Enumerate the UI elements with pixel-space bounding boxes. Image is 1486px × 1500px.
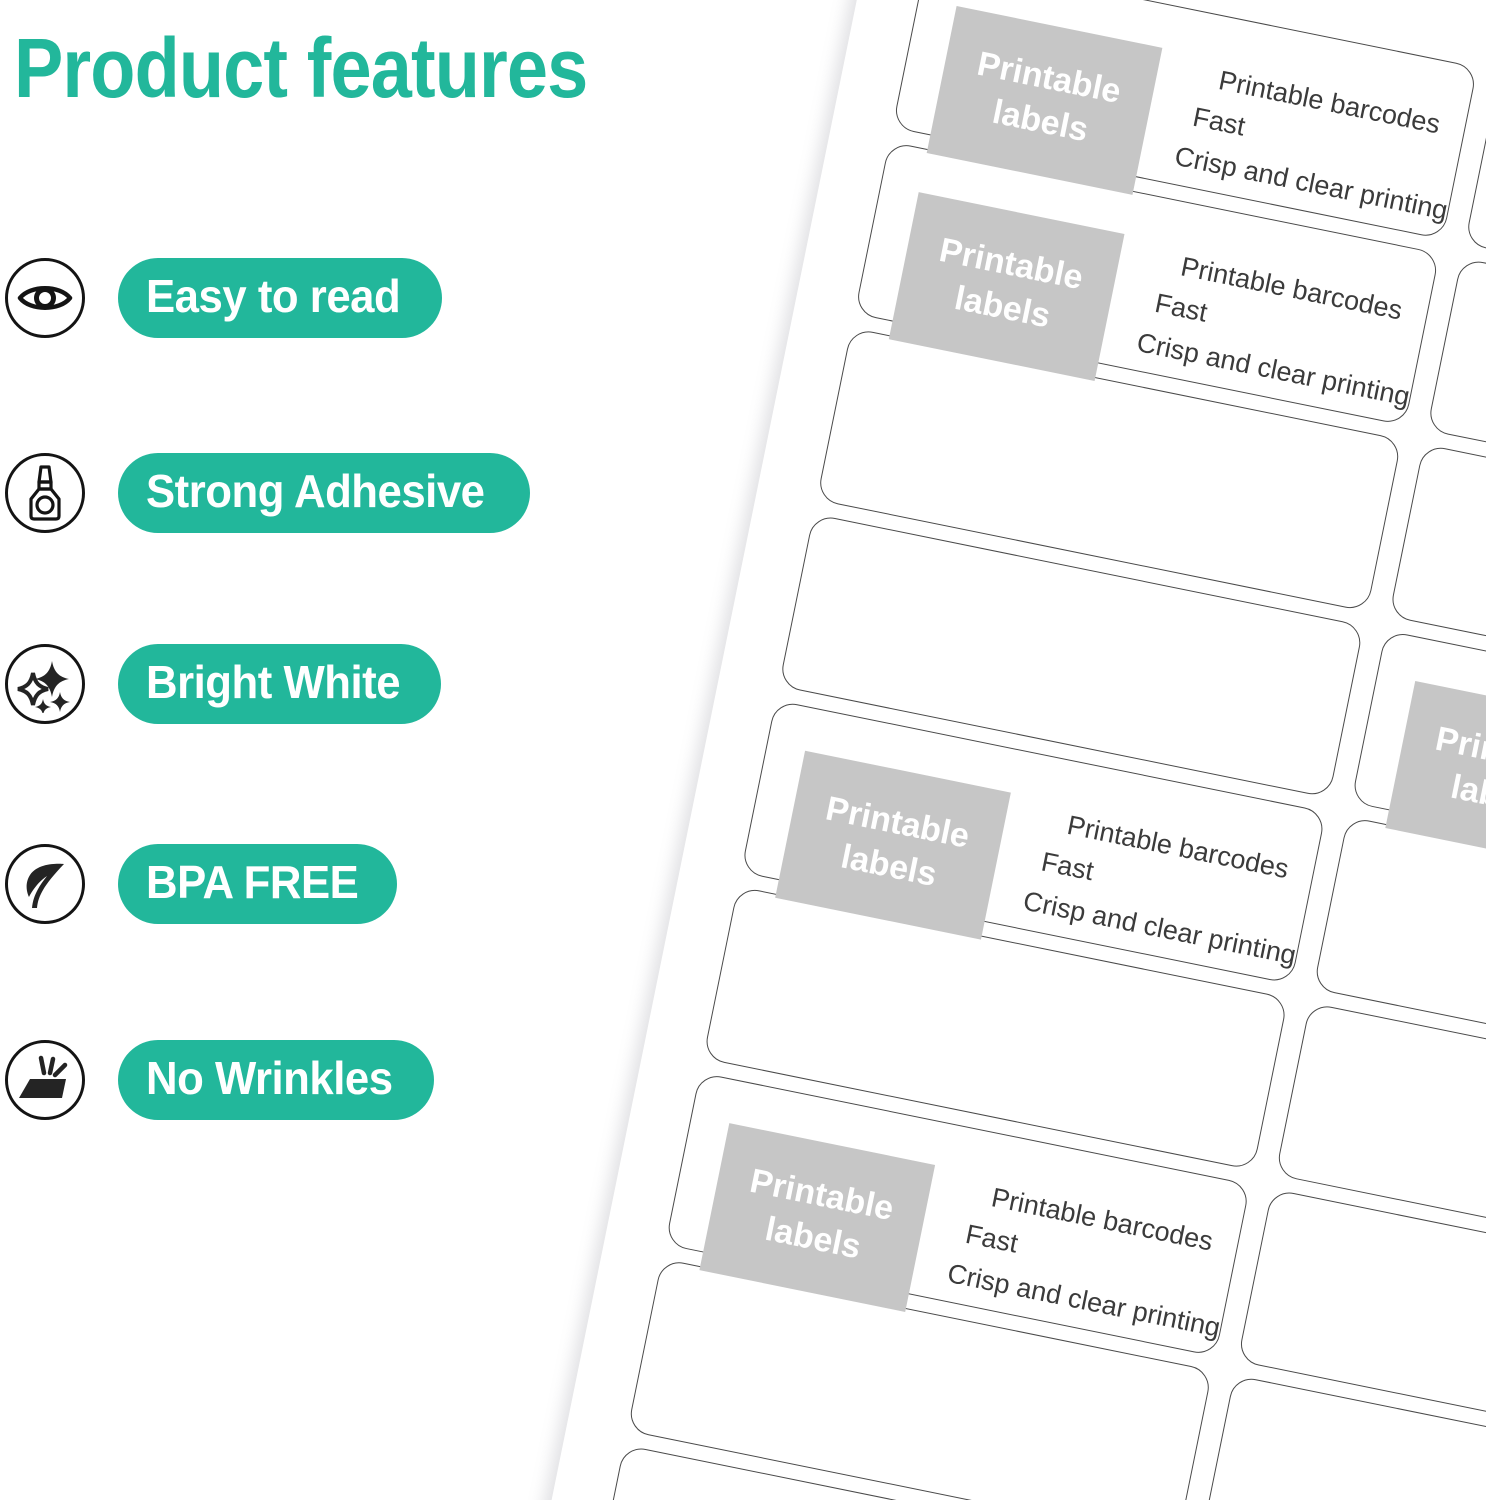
glue-bottle-icon xyxy=(5,453,85,533)
label-bullet-list: Printable barcodesFastCrisp and clear pr… xyxy=(1133,241,1430,417)
feature-row-strong-adhesive: Strong Adhesive xyxy=(5,447,530,539)
leaf-icon xyxy=(5,844,85,924)
feature-row-no-wrinkles: No Wrinkles xyxy=(5,1034,434,1126)
label-bullet-list: Printable barcodesFastCrisp and clear pr… xyxy=(944,1172,1241,1348)
feature-label: Strong Adhesive xyxy=(146,468,484,518)
feature-label: BPA FREE xyxy=(146,859,358,909)
feature-row-easy-to-read: Easy to read xyxy=(5,252,442,344)
feature-pill-strong-adhesive[interactable]: Strong Adhesive xyxy=(118,453,530,533)
feature-pill-bpa-free[interactable]: BPA FREE xyxy=(118,844,397,924)
label-bullet-list: Printable barcodesFastCrisp and clear pr… xyxy=(1171,55,1468,231)
feature-pill-no-wrinkles[interactable]: No Wrinkles xyxy=(118,1040,434,1120)
feature-row-bright-white: Bright White xyxy=(5,638,441,730)
feature-pill-easy-to-read[interactable]: Easy to read xyxy=(118,258,442,338)
feature-row-bpa-free: BPA FREE xyxy=(5,838,397,930)
feature-label: No Wrinkles xyxy=(146,1055,393,1105)
eye-icon xyxy=(5,258,85,338)
page-title: Product features xyxy=(14,24,587,112)
flat-sheet-icon xyxy=(5,1040,85,1120)
features-panel: Product features Easy to read Strong Adh… xyxy=(0,0,760,1500)
feature-pill-bright-white[interactable]: Bright White xyxy=(118,644,441,724)
feature-label: Easy to read xyxy=(146,273,400,323)
label-bullet-list: Printable barcodesFastCrisp and clear pr… xyxy=(1020,800,1317,976)
feature-label: Bright White xyxy=(146,659,400,709)
sparkle-icon xyxy=(5,644,85,724)
label-badge-line2: labels xyxy=(1447,766,1486,828)
